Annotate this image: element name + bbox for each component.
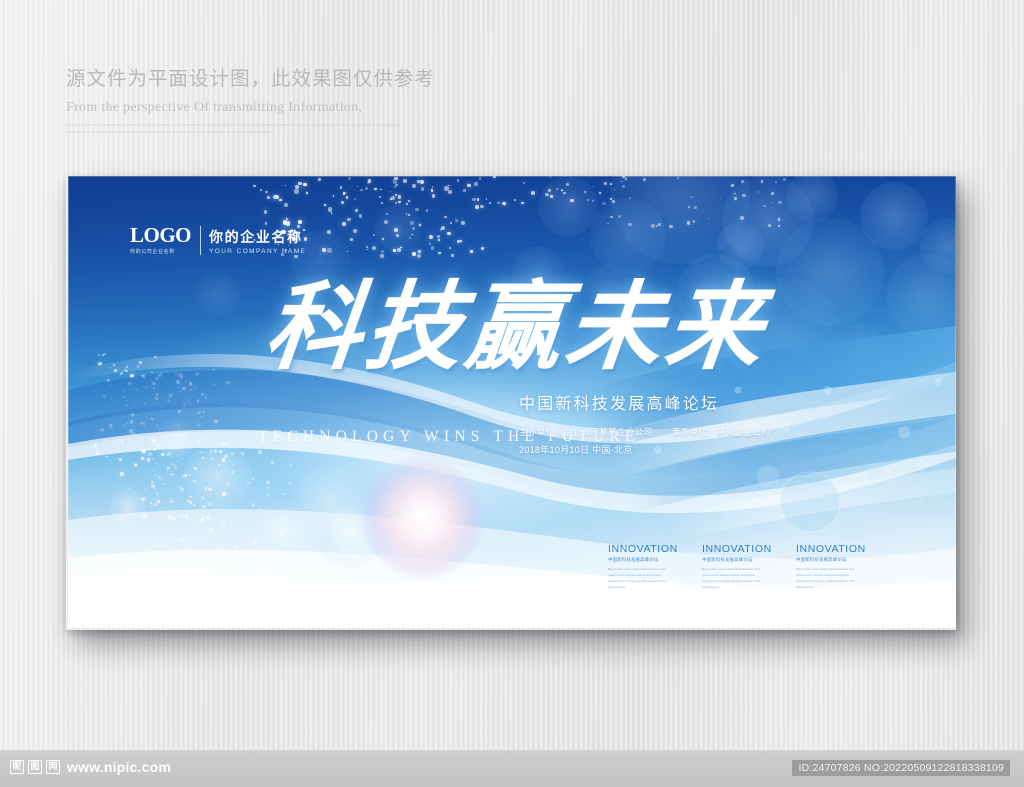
- innovation-subtitle: 中国新科技发展高峰论坛: [796, 557, 858, 563]
- innovation-subtitle: 中国新科技发展高峰论坛: [608, 557, 670, 563]
- company-name-en: YOUR COMPANY NAME: [209, 248, 306, 255]
- event-date-place: 2018年10月10日 中国·北京: [519, 443, 770, 456]
- event-organizers: 主办单位：企业公司某某企业公司 承办单位：某某企业公司: [519, 426, 770, 438]
- company-name-cn: 你的企业名称: [209, 230, 306, 245]
- logo-divider: [200, 226, 201, 255]
- notes-en-heading: From the perspective Of transmitting Inf…: [66, 100, 586, 116]
- event-title: 中国新科技发展高峰论坛: [519, 395, 770, 416]
- innovation-title: INNOVATION: [796, 543, 858, 555]
- innovation-block: INNOVATION 中国新科技发展高峰论坛 Big brother need …: [608, 543, 670, 590]
- lens-flare-primary: [363, 458, 483, 578]
- innovation-columns: INNOVATION 中国新科技发展高峰论坛 Big brother need …: [608, 543, 858, 590]
- innovation-body: Big brother need much started beaver and…: [608, 566, 670, 590]
- innovation-subtitle: 中国新科技发展高峰论坛: [702, 557, 764, 563]
- logo-wordmark: LOGO: [130, 226, 191, 246]
- brand-char-1: 昵: [10, 760, 24, 774]
- asset-id-badge: ID:24707826 NO:20220509122818338109: [792, 760, 1010, 776]
- logo-mark: LOGO 你的公司企业名称: [130, 226, 200, 255]
- innovation-body: Big brother need much started beaver and…: [796, 566, 858, 590]
- innovation-body: Big brother need much started beaver and…: [702, 566, 764, 590]
- notes-cn-heading: 源文件为平面设计图，此效果图仅供参考: [66, 66, 586, 93]
- notes-micro-paragraph: From the perspective of transmitting inf…: [66, 122, 411, 135]
- event-info: 中国新科技发展高峰论坛 主办单位：企业公司某某企业公司 承办单位：某某企业公司 …: [519, 395, 770, 456]
- logo-subtext: 你的公司企业名称: [130, 248, 191, 255]
- poster-artboard: LOGO 你的公司企业名称 你的企业名称 YOUR COMPANY NAME 科…: [68, 176, 956, 628]
- brand-char-2: 图: [28, 760, 42, 774]
- event-co-organizer: 承办单位：某某企业公司: [672, 427, 770, 437]
- brand-char-3: 网: [46, 760, 60, 774]
- design-notes: 源文件为平面设计图，此效果图仅供参考 From the perspective …: [66, 66, 586, 136]
- brand-url: www.nipic.com: [67, 759, 171, 775]
- preview-canvas: 源文件为平面设计图，此效果图仅供参考 From the perspective …: [0, 0, 1024, 787]
- innovation-title: INNOVATION: [608, 543, 670, 555]
- poster-logo: LOGO 你的公司企业名称 你的企业名称 YOUR COMPANY NAME: [130, 226, 306, 255]
- event-organizer: 主办单位：企业公司某某企业公司: [519, 427, 653, 437]
- watermark-footer: 昵 图 网 www.nipic.com ID:24707826 NO:20220…: [0, 750, 1024, 787]
- company-names: 你的企业名称 YOUR COMPANY NAME: [209, 230, 306, 255]
- nipic-brand: 昵 图 网 www.nipic.com: [10, 759, 171, 775]
- innovation-title: INNOVATION: [702, 543, 764, 555]
- innovation-block: INNOVATION 中国新科技发展高峰论坛 Big brother need …: [702, 543, 764, 590]
- poster-headline: 科技赢未来: [261, 280, 771, 376]
- innovation-block: INNOVATION 中国新科技发展高峰论坛 Big brother need …: [796, 543, 858, 590]
